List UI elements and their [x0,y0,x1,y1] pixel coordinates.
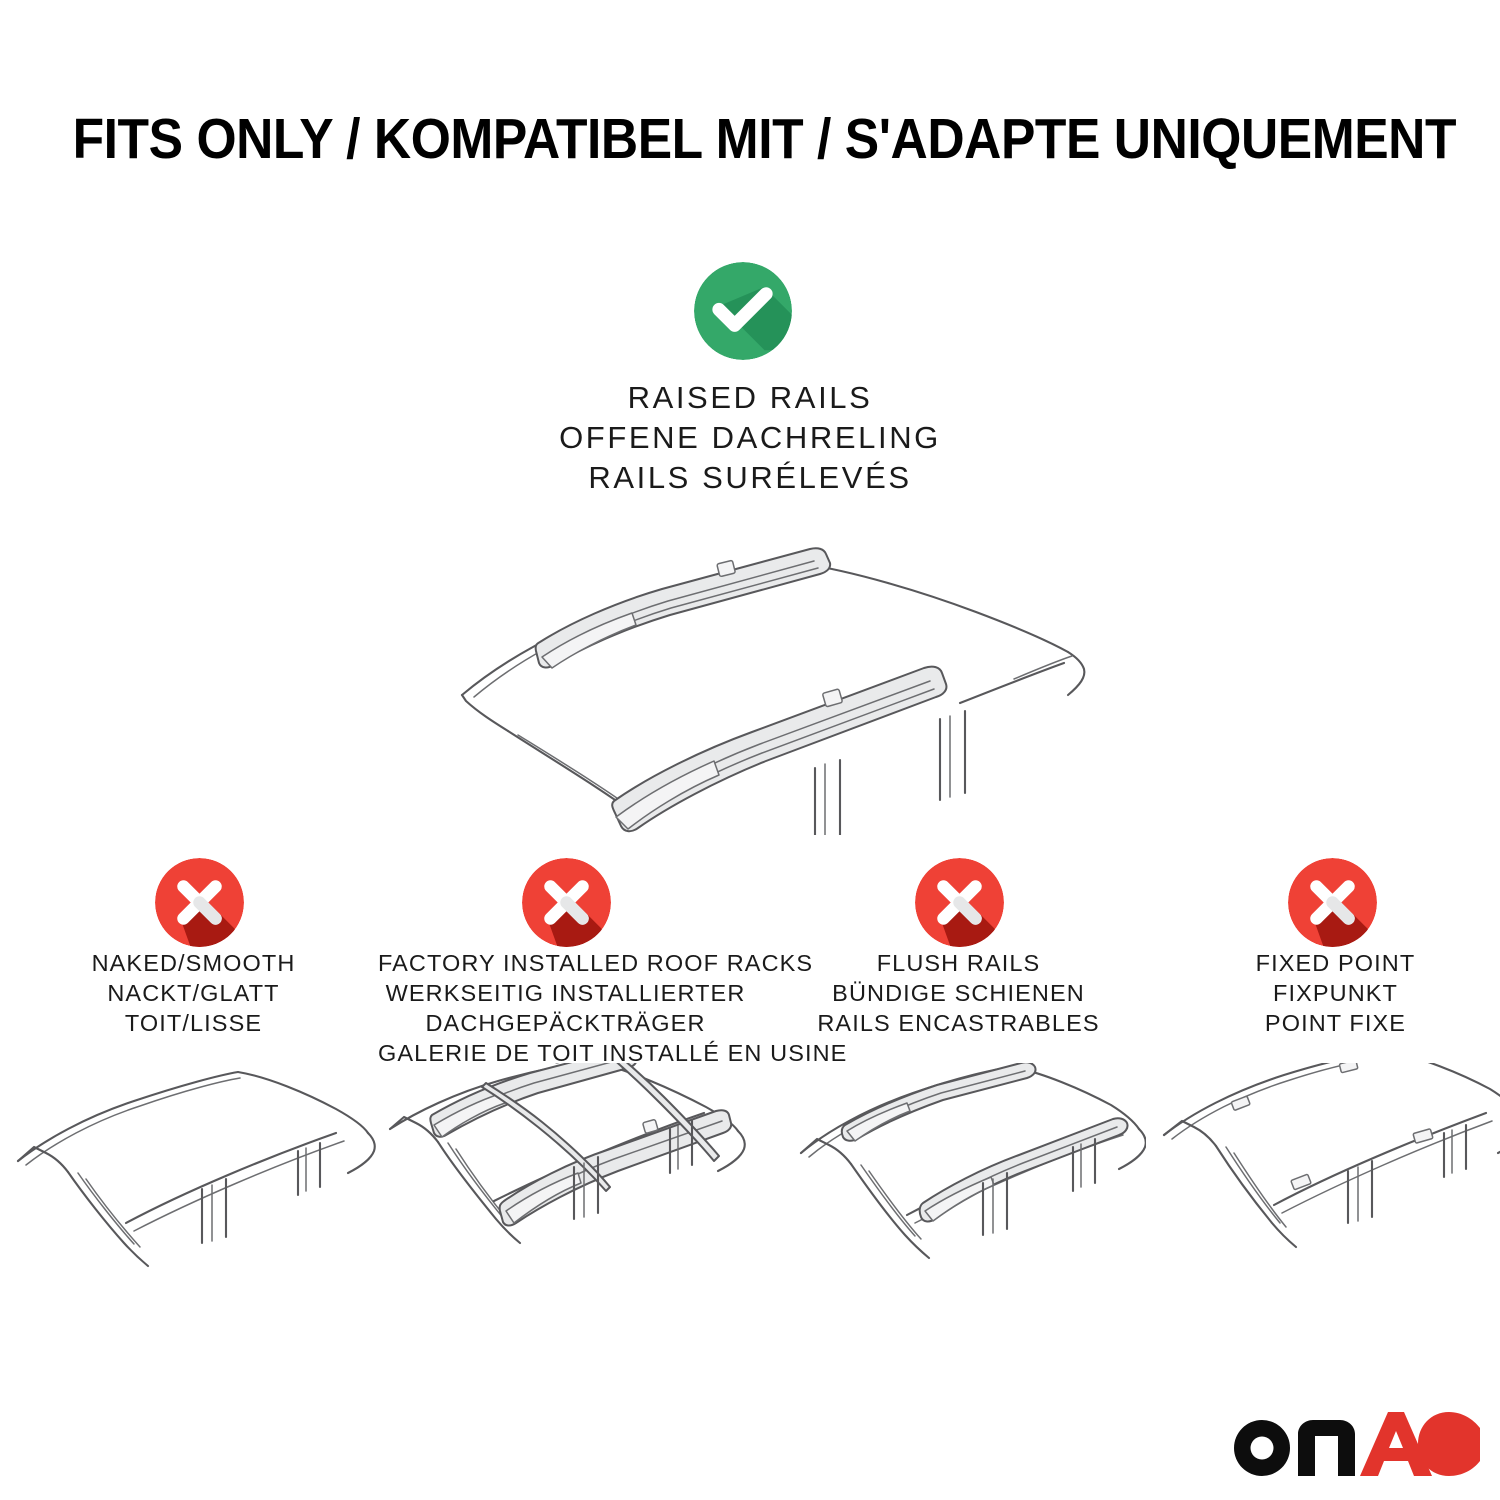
caption-line: RAILS SURÉLEVÉS [430,458,1070,498]
caption-line: FLUSH RAILS [771,948,1146,978]
incompatible-caption: FACTORY INSTALLED ROOF RACKS WERKSEITIG … [378,948,753,1068]
red-x-circle-icon [1288,858,1377,947]
caption-line: FIXED POINT [1148,948,1500,978]
incompatible-section-factory-roof-racks: FACTORY INSTALLED ROOF RACKS WERKSEITIG … [378,845,753,1295]
incompatible-section-flush-rails: FLUSH RAILS BÜNDIGE SCHIENEN RAILS ENCAS… [771,845,1146,1295]
car-roof-naked-smooth-illustration [6,1063,381,1283]
caption-line: BÜNDIGE SCHIENEN [771,978,1146,1008]
compatible-section: RAISED RAILS OFFENE DACHRELING RAILS SUR… [0,0,1500,840]
red-x-circle-icon [522,858,611,947]
incompatible-caption: FLUSH RAILS BÜNDIGE SCHIENEN RAILS ENCAS… [771,948,1146,1038]
caption-line: FACTORY INSTALLED ROOF RACKS [378,948,753,978]
car-roof-with-raised-rails-illustration [400,505,1110,835]
compatible-caption: RAISED RAILS OFFENE DACHRELING RAILS SUR… [430,378,1070,498]
red-x-circle-icon [915,858,1004,947]
green-check-circle-icon [694,262,792,360]
car-roof-factory-roof-rack-illustration [378,1063,753,1283]
caption-line: TOIT/LISSE [6,1008,381,1038]
caption-line: RAILS ENCASTRABLES [771,1008,1146,1038]
caption-line: DACHGEPÄCKTRÄGER [378,1008,753,1038]
car-roof-flush-rails-illustration [771,1063,1146,1283]
incompatible-section-fixed-point: FIXED POINT FIXPUNKT POINT FIXE [1148,845,1500,1295]
caption-line: NAKED/SMOOTH [6,948,381,978]
red-x-circle-icon [155,858,244,947]
caption-line: WERKSEITIG INSTALLIERTER [378,978,753,1008]
caption-line: POINT FIXE [1148,1008,1500,1038]
omac-logo [1232,1404,1480,1480]
car-roof-fixed-point-illustration [1148,1063,1500,1283]
incompatible-caption: NAKED/SMOOTH NACKT/GLATT TOIT/LISSE [6,948,381,1038]
incompatible-section-naked-smooth: NAKED/SMOOTH NACKT/GLATT TOIT/LISSE [6,845,381,1295]
incompatible-caption: FIXED POINT FIXPUNKT POINT FIXE [1148,948,1500,1038]
caption-line: OFFENE DACHRELING [430,418,1070,458]
caption-line: FIXPUNKT [1148,978,1500,1008]
caption-line: NACKT/GLATT [6,978,381,1008]
caption-line: RAISED RAILS [430,378,1070,418]
